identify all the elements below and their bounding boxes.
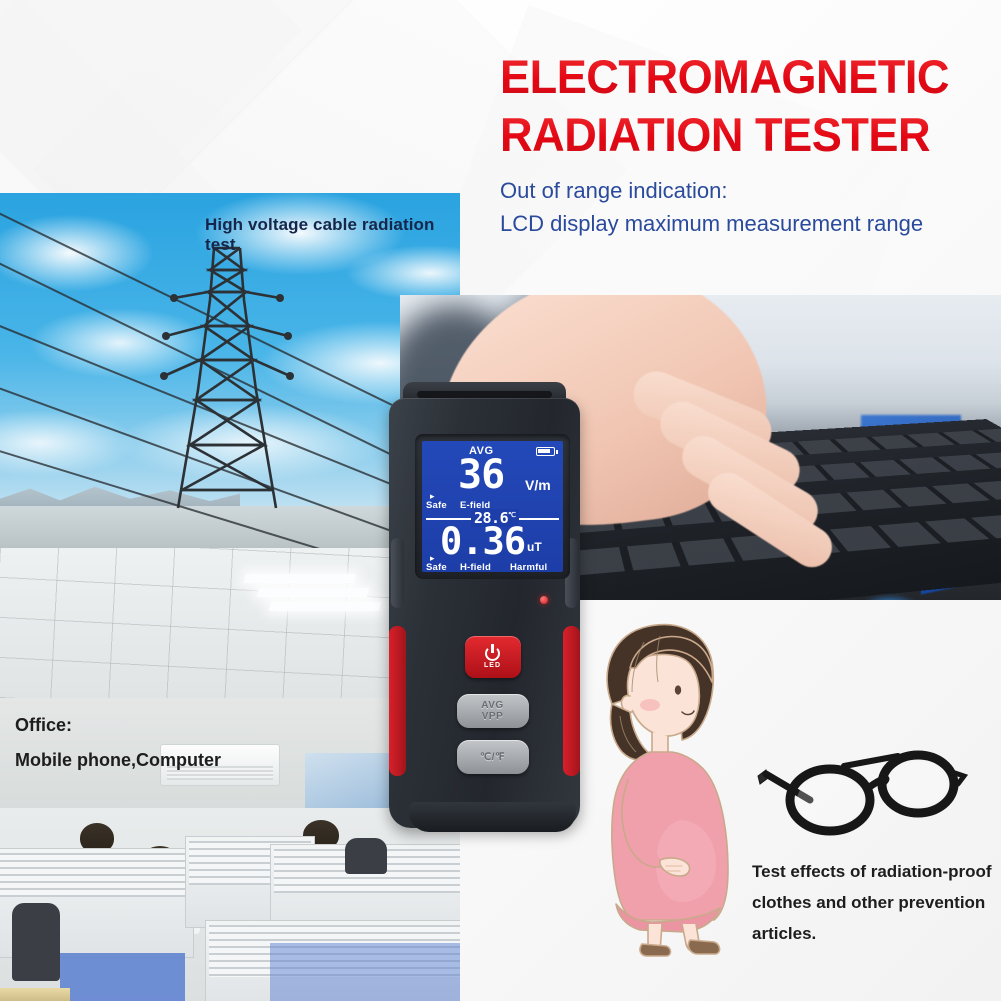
office-desk <box>0 988 70 1001</box>
pregnant-woman-illustration <box>586 612 761 957</box>
ceiling-light <box>269 602 382 611</box>
power-button[interactable]: LED <box>465 636 521 678</box>
device-body: AVG 36 V/m ▸ Safe E-field 28.6℃ 0.36 uT … <box>389 398 580 828</box>
background-shape-2 <box>0 0 368 198</box>
transmission-tower <box>152 240 302 510</box>
caption-high-voltage: High voltage cable radiation test <box>205 215 460 255</box>
device-side-grip-upper <box>391 538 404 608</box>
office-chair <box>12 903 60 981</box>
lcd-hfield-label: H-field <box>460 562 491 572</box>
lcd-screen: AVG 36 V/m ▸ Safe E-field 28.6℃ 0.36 uT … <box>422 441 563 572</box>
led-indicator <box>540 596 548 604</box>
temperature-button-label: ℃/℉ <box>480 752 505 763</box>
lcd-hfield-status: Safe <box>426 562 447 572</box>
cubicle-blue-panel <box>270 943 460 1001</box>
cubicle-blinds <box>0 853 190 897</box>
cubicle-blue-panel <box>60 953 185 1001</box>
avg-button-label-top: AVG <box>481 700 503 711</box>
emf-tester-device[interactable]: AVG 36 V/m ▸ Safe E-field 28.6℃ 0.36 uT … <box>381 382 588 828</box>
subtitle-line-2: LCD display maximum measurement range <box>500 207 970 240</box>
device-bottom-cap <box>409 802 576 832</box>
lcd-efield-value: 36 <box>458 455 504 495</box>
lcd-harmful-label: Harmful <box>510 562 547 572</box>
eyeglasses-illustration <box>748 742 968 837</box>
subtitle-line-1: Out of range indication: <box>500 174 970 207</box>
device-red-grip-left <box>389 626 406 776</box>
office-chair <box>345 838 387 874</box>
lcd-bezel: AVG 36 V/m ▸ Safe E-field 28.6℃ 0.36 uT … <box>415 434 570 579</box>
poster-page: ELECTROMAGNETIC RADIATION TESTER Out of … <box>0 0 1001 1001</box>
headline-block: ELECTROMAGNETIC RADIATION TESTER Out of … <box>500 48 970 240</box>
ceiling-light <box>257 588 370 597</box>
avg-button-label-bottom: VPP <box>482 711 504 722</box>
temperature-unit-button[interactable]: ℃/℉ <box>457 740 529 774</box>
lcd-hfield-unit: uT <box>527 540 542 554</box>
lcd-efield-unit: V/m <box>525 477 551 493</box>
lcd-hfield-value: 0.36 <box>440 523 525 560</box>
caption-office-label: Office: <box>15 708 221 743</box>
caption-office-items: Mobile phone,Computer <box>15 743 221 778</box>
caption-clothes-test: Test effects of radiation-proof clothes … <box>752 856 992 949</box>
power-button-label: LED <box>484 662 501 669</box>
ceiling-light <box>244 574 357 583</box>
battery-icon <box>536 447 555 456</box>
caption-office: Office: Mobile phone,Computer <box>15 708 221 778</box>
title-line-1: ELECTROMAGNETIC <box>500 48 951 106</box>
device-button-area: LED AVG VPP ℃/℉ <box>415 588 570 818</box>
avg-vpp-button[interactable]: AVG VPP <box>457 694 529 728</box>
power-icon <box>485 646 500 661</box>
title-line-2: RADIATION TESTER <box>500 106 951 164</box>
lcd-efield-status: Safe <box>426 500 447 511</box>
